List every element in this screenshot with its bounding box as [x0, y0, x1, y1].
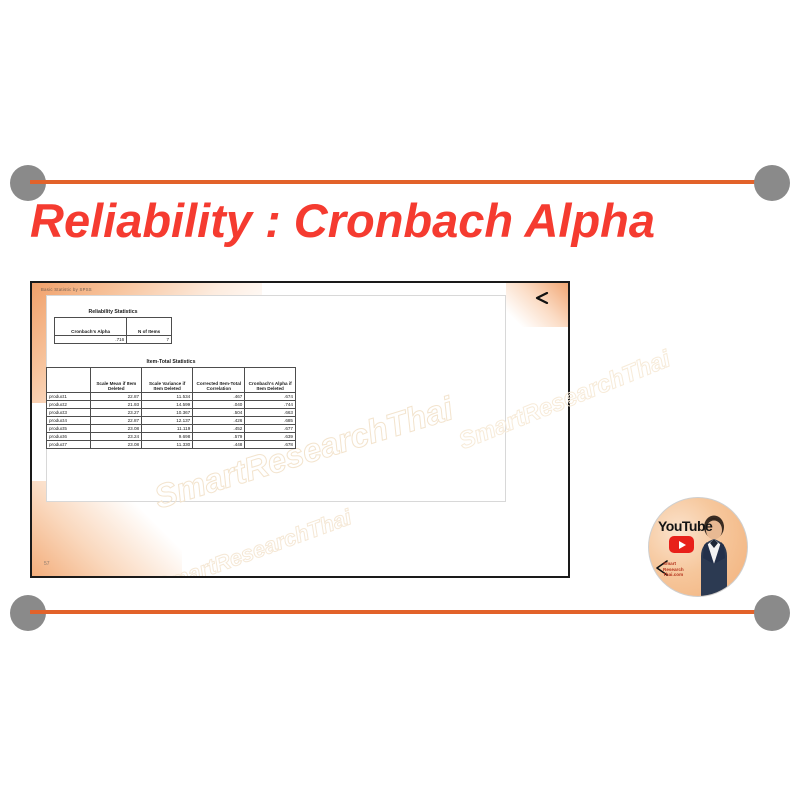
row-item-label: product3: [47, 409, 91, 417]
table-row: product422.8712.137.426.685: [47, 417, 296, 425]
youtube-play-icon: [669, 536, 694, 553]
col-header-correlation: Corrected Item-Total Correlation: [193, 368, 245, 393]
table-row: product221.9314.599.040.744: [47, 401, 296, 409]
row-scale-mean: 23.08: [91, 441, 142, 449]
reliability-header-alpha: Cronbach's Alpha: [55, 318, 127, 336]
row-item-label: product6: [47, 433, 91, 441]
page-title: Reliability : Cronbach Alpha: [30, 196, 770, 245]
row-alpha-if-deleted: .674: [245, 393, 296, 401]
row-alpha-if-deleted: .744: [245, 401, 296, 409]
row-correlation: .448: [193, 441, 245, 449]
reliability-statistics-table: Reliability Statistics Cronbach's Alpha …: [54, 309, 172, 344]
spss-slide: Basic Statistic by SPSS 57 SmartResearch…: [30, 281, 570, 578]
slide-page-number: 57: [44, 561, 50, 567]
youtube-label: YouTube: [658, 518, 712, 534]
row-scale-mean: 23.27: [91, 409, 142, 417]
reliability-header-nitems: N of Items: [127, 318, 172, 336]
row-scale-variance: 11.534: [142, 393, 193, 401]
row-scale-variance: 10.367: [142, 409, 193, 417]
row-alpha-if-deleted: .639: [245, 433, 296, 441]
row-scale-variance: 11.119: [142, 425, 193, 433]
table-row: product623.249.698.579.639: [47, 433, 296, 441]
row-scale-mean: 22.87: [91, 393, 142, 401]
row-correlation: .504: [193, 409, 245, 417]
row-correlation: .452: [193, 425, 245, 433]
reliability-value-alpha: .716: [55, 336, 127, 344]
row-correlation: .467: [193, 393, 245, 401]
item-total-caption: Item-Total Statistics: [46, 359, 296, 365]
row-scale-variance: 12.137: [142, 417, 193, 425]
row-scale-variance: 11.330: [142, 441, 193, 449]
badge-sub-line1: Smart: [663, 561, 676, 566]
row-scale-mean: 21.93: [91, 401, 142, 409]
row-alpha-if-deleted: .685: [245, 417, 296, 425]
badge-subtitle: Smart Research Thai.com: [663, 561, 684, 578]
row-alpha-if-deleted: .677: [245, 425, 296, 433]
table-row: product723.0811.330.448.678: [47, 441, 296, 449]
row-alpha-if-deleted: .663: [245, 409, 296, 417]
divider-dot-right-bottom: [754, 595, 790, 631]
row-alpha-if-deleted: .678: [245, 441, 296, 449]
divider-line-bottom: [30, 610, 770, 614]
youtube-channel-badge[interactable]: YouTube Smart Research Thai.com: [648, 497, 748, 597]
table-row: product523.0811.119.452.677: [47, 425, 296, 433]
row-scale-mean: 23.24: [91, 433, 142, 441]
watermark-text: SmartResearchThai: [152, 504, 355, 578]
divider-line-top: [30, 180, 770, 184]
row-correlation: .426: [193, 417, 245, 425]
row-item-label: product4: [47, 417, 91, 425]
col-header-item: [47, 368, 91, 393]
row-correlation: .040: [193, 401, 245, 409]
badge-sub-line2: Research: [663, 567, 684, 572]
table-row: product122.8711.534.467.674: [47, 393, 296, 401]
slide-header-text: Basic Statistic by SPSS: [41, 287, 92, 292]
row-scale-mean: 23.08: [91, 425, 142, 433]
chevron-left-icon: [534, 291, 550, 309]
badge-sub-line3: Thai.com: [663, 572, 683, 577]
slide-page: Reliability : Cronbach Alpha Basic Stati…: [0, 0, 800, 800]
row-scale-mean: 22.87: [91, 417, 142, 425]
table-row: product323.2710.367.504.663: [47, 409, 296, 417]
reliability-value-nitems: 7: [127, 336, 172, 344]
col-header-alpha-if-deleted: Cronbach's Alpha if Item Deleted: [245, 368, 296, 393]
row-item-label: product1: [47, 393, 91, 401]
col-header-scale-mean: Scale Mean if Item Deleted: [91, 368, 142, 393]
bottom-divider: [0, 592, 800, 632]
reliability-caption: Reliability Statistics: [54, 309, 172, 315]
row-item-label: product7: [47, 441, 91, 449]
row-scale-variance: 14.599: [142, 401, 193, 409]
col-header-scale-variance: Scale Variance if Item Deleted: [142, 368, 193, 393]
row-item-label: product5: [47, 425, 91, 433]
row-item-label: product2: [47, 401, 91, 409]
row-scale-variance: 9.698: [142, 433, 193, 441]
item-total-statistics-table: Item-Total Statistics Scale Mean if Item…: [46, 359, 296, 449]
table-header-row: Scale Mean if Item Deleted Scale Varianc…: [47, 368, 296, 393]
row-correlation: .579: [193, 433, 245, 441]
